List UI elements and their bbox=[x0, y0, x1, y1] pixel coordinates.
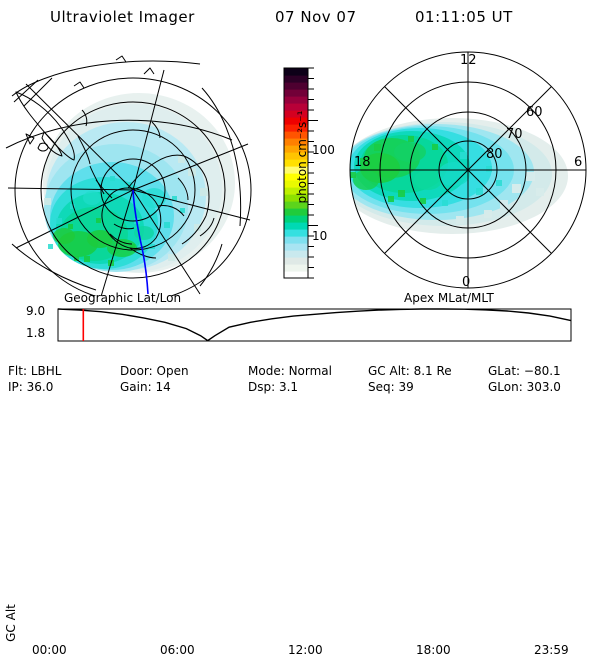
orbit-xtick-0000: 00:00 bbox=[32, 643, 67, 657]
status-field-value: 8.1 Re bbox=[414, 364, 452, 378]
status-field-value: 36.0 bbox=[27, 380, 54, 394]
mlat-ring-label-80: 80 bbox=[486, 147, 503, 162]
mlt-grid bbox=[350, 52, 586, 288]
colorbar-swatch bbox=[284, 68, 308, 76]
status-field-value: Open bbox=[157, 364, 189, 378]
status-field: GLat: −80.1 bbox=[488, 364, 561, 378]
orbit-y-axis-label: GC Alt bbox=[4, 601, 18, 645]
colorbar-swatch bbox=[284, 271, 308, 279]
status-field: IP: 36.0 bbox=[8, 380, 53, 394]
status-field-value: −80.1 bbox=[524, 364, 561, 378]
status-field-label: Dsp: bbox=[248, 380, 279, 394]
colorbar-tick-label-10: 10 bbox=[312, 229, 327, 243]
status-field: GC Alt: 8.1 Re bbox=[368, 364, 452, 378]
status-field: Seq: 39 bbox=[368, 380, 414, 394]
mlat-ring-label-60: 60 bbox=[526, 105, 543, 120]
mlt-label-18: 18 bbox=[354, 155, 371, 170]
colorbar-swatch bbox=[284, 264, 308, 272]
colorbar-swatch bbox=[284, 257, 308, 265]
status-field: Mode: Normal bbox=[248, 364, 332, 378]
status-field: Gain: 14 bbox=[120, 380, 171, 394]
status-field-value: 303.0 bbox=[527, 380, 561, 394]
mlt-label-6: 6 bbox=[574, 155, 582, 170]
status-field: Flt: LBHL bbox=[8, 364, 61, 378]
status-field-value: LBHL bbox=[31, 364, 62, 378]
page-title: Ultraviolet Imager bbox=[50, 8, 195, 26]
orbit-xtick-1200: 12:00 bbox=[288, 643, 323, 657]
status-field-label: Door: bbox=[120, 364, 157, 378]
orbit-ytick-low: 1.8 bbox=[26, 326, 600, 340]
status-row: Flt: LBHLDoor: OpenMode: NormalGC Alt: 8… bbox=[0, 364, 600, 379]
status-field: GLon: 303.0 bbox=[488, 380, 561, 394]
mlt-polar-plot[interactable]: 12 18 6 0 60 70 80 bbox=[336, 48, 598, 296]
status-field-value: 14 bbox=[155, 380, 170, 394]
status-field: Dsp: 3.1 bbox=[248, 380, 298, 394]
status-field-label: Seq: bbox=[368, 380, 398, 394]
aurora-data-mlt bbox=[336, 118, 568, 234]
status-field-label: GC Alt: bbox=[368, 364, 414, 378]
status-field-label: Mode: bbox=[248, 364, 289, 378]
colorbar-swatch bbox=[284, 250, 308, 258]
colorbar-panel: photon cm⁻²s⁻¹ 100 10 bbox=[256, 52, 336, 297]
status-field-label: Gain: bbox=[120, 380, 155, 394]
colorbar-tick-label-100: 100 bbox=[312, 143, 335, 157]
status-field-label: Flt: bbox=[8, 364, 31, 378]
status-field-label: GLat: bbox=[488, 364, 524, 378]
orbit-ytick-high: 9.0 bbox=[26, 304, 600, 318]
mlt-plot-svg: 12 18 6 0 60 70 80 bbox=[336, 48, 598, 296]
orbit-xtick-2359: 23:59 bbox=[534, 643, 569, 657]
status-field-value: 39 bbox=[398, 380, 413, 394]
geographic-polar-plot[interactable] bbox=[4, 48, 256, 296]
colorbar-swatch bbox=[284, 236, 308, 244]
mlt-label-0: 0 bbox=[462, 275, 470, 290]
status-field-label: IP: bbox=[8, 380, 27, 394]
status-field-value: Normal bbox=[289, 364, 332, 378]
mlt-label-12: 12 bbox=[460, 53, 477, 68]
header-date: 07 Nov 07 bbox=[275, 8, 357, 26]
orbit-xtick-0600: 06:00 bbox=[160, 643, 195, 657]
status-footer: Flt: LBHLDoor: OpenMode: NormalGC Alt: 8… bbox=[0, 364, 600, 398]
mlat-ring-label-70: 70 bbox=[506, 127, 523, 142]
status-field-label: GLon: bbox=[488, 380, 527, 394]
orbit-altitude-plot[interactable]: GC Alt 9.0 1.8 00:00 06:00 12:00 18:00 2… bbox=[0, 300, 600, 358]
header-time: 01:11:05 UT bbox=[415, 8, 513, 26]
colorbar-ticks bbox=[308, 68, 318, 278]
colorbar-axis-label: photon cm⁻²s⁻¹ bbox=[295, 77, 309, 237]
geo-plot-svg bbox=[4, 48, 256, 296]
orbit-xtick-1800: 18:00 bbox=[416, 643, 451, 657]
status-field: Door: Open bbox=[120, 364, 189, 378]
colorbar-swatch bbox=[284, 243, 308, 251]
status-row: IP: 36.0Gain: 14Dsp: 3.1Seq: 39GLon: 303… bbox=[0, 380, 600, 395]
header-bar: Ultraviolet Imager 07 Nov 07 01:11:05 UT bbox=[0, 8, 600, 32]
status-field-value: 3.1 bbox=[279, 380, 298, 394]
